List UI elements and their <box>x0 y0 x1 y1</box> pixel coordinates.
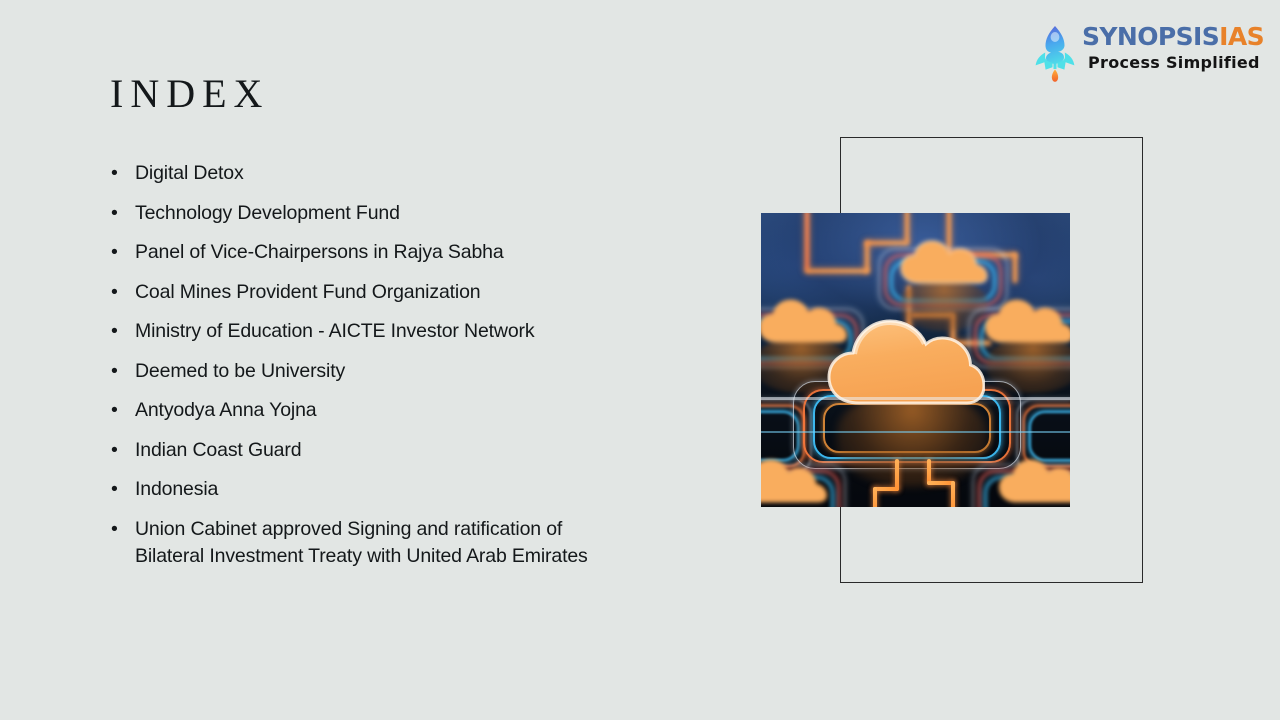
list-item-label: Indian Coast Guard <box>135 437 708 464</box>
list-item-label: Union Cabinet approved Signing and ratif… <box>135 516 635 570</box>
list-item: • Technology Development Fund <box>108 200 708 227</box>
list-item-label: Digital Detox <box>135 160 708 187</box>
bullet-icon: • <box>111 239 118 266</box>
logo-tagline: Process Simplified <box>1082 52 1246 74</box>
presentation-slide: SYNOPSISIAS Process Simplified INDEX • D… <box>0 0 1280 720</box>
list-item: • Ministry of Education - AICTE Investor… <box>108 318 708 345</box>
list-item: • Union Cabinet approved Signing and rat… <box>108 516 635 570</box>
logo-wordmark: SYNOPSISIAS <box>1082 22 1246 52</box>
bullet-icon: • <box>111 516 118 543</box>
bullet-icon: • <box>111 437 118 464</box>
list-item: • Panel of Vice-Chairpersons in Rajya Sa… <box>108 239 708 266</box>
bullet-icon: • <box>111 160 118 187</box>
bullet-icon: • <box>111 476 118 503</box>
list-item-label: Ministry of Education - AICTE Investor N… <box>135 318 708 345</box>
index-list: • Digital Detox • Technology Development… <box>108 160 708 582</box>
rocket-s-logo-icon <box>1032 24 1078 82</box>
bullet-icon: • <box>111 279 118 306</box>
list-item: • Coal Mines Provident Fund Organization <box>108 279 708 306</box>
list-item-label: Antyodya Anna Yojna <box>135 397 708 424</box>
cloud-network-image-canvas <box>761 213 1070 507</box>
brand-logo: SYNOPSISIAS Process Simplified <box>1032 22 1246 84</box>
logo-wordmark-part2: IAS <box>1219 22 1264 51</box>
list-item-label: Technology Development Fund <box>135 200 708 227</box>
bullet-icon: • <box>111 200 118 227</box>
bullet-icon: • <box>111 318 118 345</box>
list-item-label: Panel of Vice-Chairpersons in Rajya Sabh… <box>135 239 708 266</box>
logo-text-block: SYNOPSISIAS Process Simplified <box>1082 22 1246 74</box>
list-item-label: Coal Mines Provident Fund Organization <box>135 279 708 306</box>
list-item: • Deemed to be University <box>108 358 708 385</box>
list-item-label: Indonesia <box>135 476 708 503</box>
list-item: • Digital Detox <box>108 160 708 187</box>
list-item: • Indian Coast Guard <box>108 437 708 464</box>
logo-wordmark-part1: SYNOPSIS <box>1082 22 1219 51</box>
list-item-label: Deemed to be University <box>135 358 708 385</box>
bullet-icon: • <box>111 358 118 385</box>
cloud-network-image <box>761 213 1070 507</box>
list-item: • Antyodya Anna Yojna <box>108 397 708 424</box>
list-item: • Indonesia <box>108 476 708 503</box>
bullet-icon: • <box>111 397 118 424</box>
page-title: INDEX <box>110 70 269 118</box>
